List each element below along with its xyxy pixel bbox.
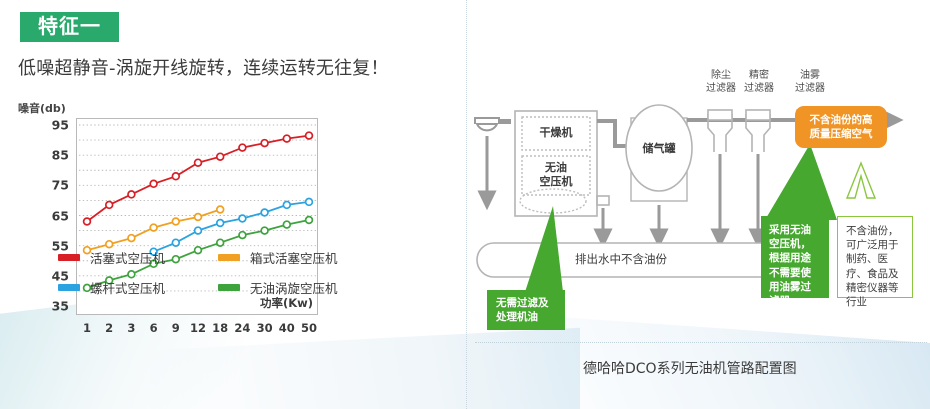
chart-data-point (150, 180, 157, 187)
chart-x-tick: 40 (279, 321, 295, 335)
chart-data-point (217, 153, 224, 160)
chart-legend-swatch (218, 254, 240, 261)
chart-data-point (283, 135, 290, 142)
filter-label-oilmist-line2: 过滤器 (795, 83, 825, 94)
callout-clean-air-line2: 质量压缩空气 (810, 128, 873, 140)
chart-data-point (239, 144, 246, 151)
callout-clean-air-line1: 不含油份的高 (810, 114, 873, 126)
chart-y-tick: 95 (52, 118, 69, 133)
filter-label-precision: 精密 过滤器 (742, 70, 776, 95)
chart-data-point (306, 199, 313, 206)
chart-y-tick: 35 (52, 299, 69, 314)
chart-data-point (84, 218, 91, 225)
diagram-box-drain: 排出水中不含油份 (575, 252, 715, 267)
chart-legend-label: 活塞式空压机 (90, 248, 165, 267)
chart-legend-item: 螺杆式空压机 (58, 278, 218, 297)
chart-data-point (261, 140, 268, 147)
diagram-caption: 德哈哈DCO系列无油机管路配置图 (583, 358, 797, 378)
chart-x-tick: 12 (190, 321, 206, 335)
chart-data-point (106, 202, 113, 209)
chart-data-point (172, 239, 179, 246)
diagram-box-compressor: 无油 空压机 (522, 161, 590, 190)
chart-legend-item: 箱式活塞空压机 (218, 248, 378, 267)
chart-legend-label: 箱式活塞空压机 (250, 248, 338, 267)
chart-x-tick: 50 (301, 321, 317, 335)
callout-clean-air: 不含油份的高 质量压缩空气 (795, 106, 887, 148)
callout-no-oilmist-filter: 采用无油空压机，根据用途不需要使用油雾过滤器 (761, 216, 829, 298)
chart-x-tick: 30 (257, 321, 273, 335)
chart-data-point (150, 224, 157, 231)
chart-data-point (128, 191, 135, 198)
chart-legend-swatch (218, 284, 240, 291)
chart-data-point (239, 215, 246, 222)
filter-label-precision-line1: 精密 (749, 70, 769, 81)
chart-data-point (217, 220, 224, 227)
chart-legend-label: 螺杆式空压机 (90, 278, 165, 297)
chart-legend: 活塞式空压机箱式活塞空压机螺杆式空压机无油涡旋空压机 (58, 248, 368, 297)
caption-divider (475, 342, 927, 343)
callout-no-filtering-needed-line2: 处理机油 (496, 311, 538, 323)
chart-legend-item: 活塞式空压机 (58, 248, 218, 267)
chart-x-tick: 18 (212, 321, 228, 335)
chart-legend-item: 无油涡旋空压机 (218, 278, 378, 297)
chart-legend-swatch (58, 254, 80, 261)
feature-headline-one: 低噪超静音-涡旋开线旋转，连续运转无往复！ (18, 54, 389, 80)
chart-data-point (217, 239, 224, 246)
chart-data-point (261, 227, 268, 234)
filter-label-oilmist-line1: 油雾 (800, 70, 820, 81)
chart-data-point (195, 214, 202, 221)
chart-legend-swatch (58, 284, 80, 291)
callout-no-filtering-needed-line1: 无需过滤及 (496, 297, 549, 309)
diagram-box-compressor-line1: 无油 (545, 161, 567, 174)
noise-chart: 噪音(db) 功率(Kw) 35455565758595123691218243… (18, 100, 348, 345)
chart-data-point (261, 209, 268, 216)
filter-label-dust: 除尘 过滤器 (704, 70, 738, 95)
chart-data-point (306, 132, 313, 139)
chart-data-point (239, 232, 246, 239)
feature-panel-left: 特征一 低噪超静音-涡旋开线旋转，连续运转无往复！ 噪音(db) 功率(Kw) … (0, 0, 465, 409)
filter-label-dust-line1: 除尘 (711, 70, 731, 81)
page-root: 特征一 低噪超静音-涡旋开线旋转，连续运转无往复！ 噪音(db) 功率(Kw) … (0, 0, 930, 409)
chart-data-point (106, 241, 113, 248)
filter-label-precision-line2: 过滤器 (744, 83, 774, 94)
feature-badge-one: 特征一 (20, 12, 119, 42)
chart-x-tick: 1 (83, 321, 91, 335)
chart-data-point (306, 217, 313, 224)
chart-data-point (172, 218, 179, 225)
filter-label-oilmist: 油雾 过滤器 (793, 70, 827, 95)
callout-applications: 不含油份，可广泛用于制药、医疗、食品及精密仪器等行业 (837, 216, 913, 298)
chart-data-point (195, 159, 202, 166)
chart-y-tick: 65 (52, 208, 69, 223)
diagram-box-tank: 储气罐 (626, 142, 692, 156)
chart-data-point (128, 235, 135, 242)
chart-y-axis-label: 噪音(db) (18, 100, 66, 116)
chart-data-point (172, 173, 179, 180)
chart-data-point (195, 227, 202, 234)
chart-x-tick: 6 (150, 321, 158, 335)
piping-diagram: 除尘 过滤器 精密 过滤器 油雾 过滤器 干燥机 无油 空压机 储气罐 排出水中… (465, 88, 930, 318)
chart-data-point (283, 202, 290, 209)
chart-x-axis-label: 功率(Kw) (260, 295, 313, 311)
chart-x-tick: 9 (172, 321, 180, 335)
filter-label-dust-line2: 过滤器 (706, 83, 736, 94)
chart-x-tick: 2 (105, 321, 113, 335)
chart-legend-label: 无油涡旋空压机 (250, 278, 338, 297)
chart-x-tick: 24 (234, 321, 250, 335)
chart-data-point (217, 206, 224, 213)
chart-y-tick: 75 (52, 178, 69, 193)
chart-y-tick: 85 (52, 148, 69, 163)
diagram-box-compressor-line2: 空压机 (540, 175, 573, 188)
chart-x-tick: 3 (127, 321, 135, 335)
chart-data-point (283, 221, 290, 228)
callout-no-filtering-needed: 无需过滤及 处理机油 (487, 290, 565, 330)
diagram-box-dryer: 干燥机 (522, 126, 590, 140)
